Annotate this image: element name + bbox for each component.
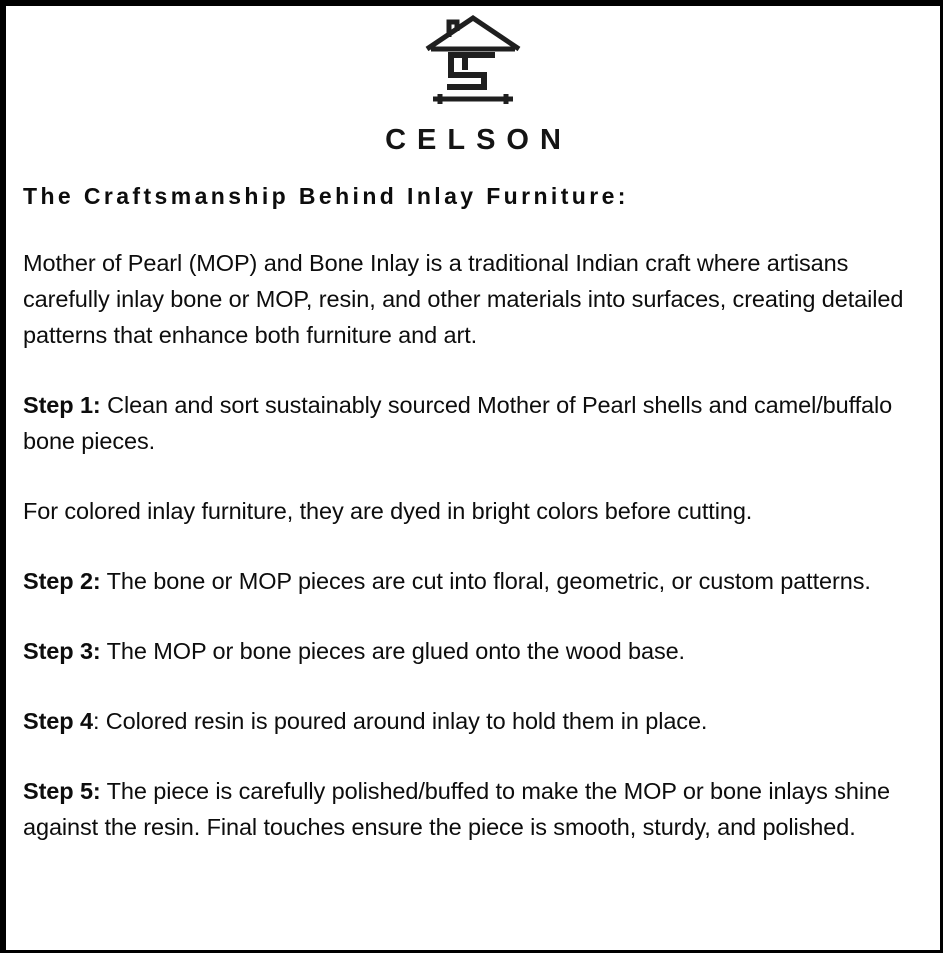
step-4-text: Colored resin is poured around inlay to … [99,708,707,734]
colored-inlay-note: For colored inlay furniture, they are dy… [23,493,909,529]
step-4-label: Step 4 [23,708,93,734]
step-3-text: The MOP or bone pieces are glued onto th… [101,638,685,664]
step-3-paragraph: Step 3: The MOP or bone pieces are glued… [23,633,909,669]
colored-inlay-note-text: For colored inlay furniture, they are dy… [23,498,752,524]
info-card: CELSON The Craftsmanship Behind Inlay Fu… [0,0,943,953]
step-2-label: Step 2: [23,568,101,594]
step-1-text: Clean and sort sustainably sourced Mothe… [23,392,892,454]
intro-paragraph: Mother of Pearl (MOP) and Bone Inlay is … [23,245,909,353]
step-5-paragraph: Step 5: The piece is carefully polished/… [23,773,909,845]
step-4-paragraph: Step 4: Colored resin is poured around i… [23,703,909,739]
step-1-paragraph: Step 1: Clean and sort sustainably sourc… [23,387,909,459]
brand-block: CELSON [6,6,940,155]
article-body: Mother of Pearl (MOP) and Bone Inlay is … [23,245,909,845]
step-5-label: Step 5: [23,778,101,804]
step-5-text: The piece is carefully polished/buffed t… [23,778,890,840]
page-title: The Craftsmanship Behind Inlay Furniture… [23,183,940,211]
brand-wordmark: CELSON [374,126,572,155]
step-1-label: Step 1: [23,392,101,418]
house-with-s-monogram-icon [421,12,525,112]
step-2-paragraph: Step 2: The bone or MOP pieces are cut i… [23,563,909,599]
intro-text: Mother of Pearl (MOP) and Bone Inlay is … [23,250,903,348]
step-2-text: The bone or MOP pieces are cut into flor… [101,568,871,594]
step-3-label: Step 3: [23,638,101,664]
